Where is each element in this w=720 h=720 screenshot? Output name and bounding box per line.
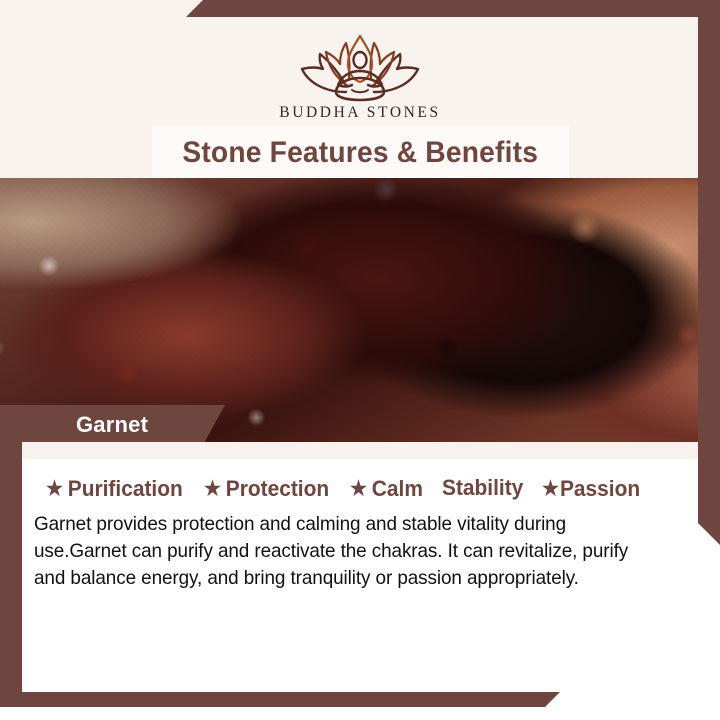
stone-name-banner: Garnet — [0, 405, 225, 445]
benefits-list: ★Purification ★Protection ★Calm Stabilit… — [22, 459, 698, 502]
stone-photo-grain — [0, 178, 720, 442]
benefit-label: Stability — [442, 475, 523, 501]
content-card: ★Purification ★Protection ★Calm Stabilit… — [22, 459, 698, 692]
star-icon: ★ — [46, 479, 63, 499]
benefit-item-purification: ★Purification — [46, 476, 183, 502]
top-accent-band — [186, 0, 720, 17]
benefit-item-protection: ★Protection — [204, 476, 329, 502]
bottom-accent-band — [0, 692, 560, 707]
right-accent-strip — [698, 0, 720, 545]
stone-features-card: BUDDHA STONES Stone Features & Benefits … — [0, 0, 720, 720]
benefit-label: Calm — [371, 476, 422, 502]
stone-name: Garnet — [76, 412, 148, 438]
page-title: Stone Features & Benefits — [183, 136, 539, 170]
benefit-label: Purification — [68, 476, 183, 502]
benefit-item-passion: ★Passion — [542, 476, 640, 502]
benefit-label: Passion — [560, 476, 640, 502]
stone-photo — [0, 178, 720, 442]
brand-logo: BUDDHA STONES — [0, 26, 720, 122]
star-icon: ★ — [350, 479, 367, 499]
lotus-meditation-figure-icon — [286, 26, 434, 102]
benefit-item-calm: ★Calm — [350, 476, 423, 502]
brand-name: BUDDHA STONES — [0, 104, 720, 122]
benefit-item-stability: Stability — [442, 475, 523, 501]
star-icon: ★ — [542, 479, 559, 499]
left-accent-strip — [0, 405, 22, 692]
photo-bottom-strip — [0, 442, 720, 459]
benefit-label: Protection — [226, 476, 329, 502]
page-title-plate: Stone Features & Benefits — [152, 126, 569, 180]
stone-description: Garnet provides protection and calming a… — [34, 511, 655, 592]
header-panel: BUDDHA STONES Stone Features & Benefits — [0, 0, 720, 178]
star-icon: ★ — [204, 479, 221, 499]
